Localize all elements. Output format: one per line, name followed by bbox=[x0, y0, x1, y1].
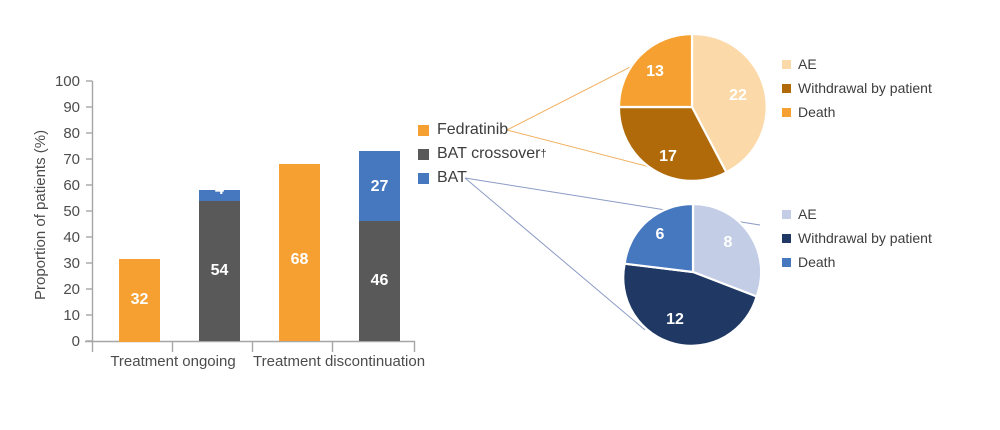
legend-label-ae: AE bbox=[798, 56, 817, 72]
x-axis-category-ticks bbox=[93, 341, 415, 352]
pie-bottom-legend: AE Withdrawal by patient Death bbox=[782, 202, 932, 274]
legend-swatch-fedratinib bbox=[418, 125, 429, 136]
pie-chart-bat bbox=[623, 204, 761, 346]
bar-value-disc-fedratinib: 68 bbox=[279, 251, 320, 269]
legend-swatch-ae bbox=[782, 210, 791, 219]
x-category-ongoing: Treatment ongoing bbox=[93, 353, 253, 370]
legend-label-death: Death bbox=[798, 254, 835, 270]
legend-dagger-bat-crossover: † bbox=[540, 148, 546, 160]
pie-bottom-value-withdrawal: 12 bbox=[666, 311, 684, 329]
legend-item-withdrawal[interactable]: Withdrawal by patient bbox=[782, 76, 932, 100]
legend-item-ae[interactable]: AE bbox=[782, 202, 932, 226]
y-tick-30: 30 bbox=[46, 256, 80, 271]
y-tick-60: 60 bbox=[46, 178, 80, 193]
legend-swatch-ae bbox=[782, 60, 791, 69]
y-tick-50: 50 bbox=[46, 204, 80, 219]
legend-item-bat[interactable]: BAT bbox=[418, 166, 547, 190]
legend-label-ae: AE bbox=[798, 206, 817, 222]
pie-top-value-withdrawal: 17 bbox=[659, 148, 677, 166]
bar-value-ongoing-bat-crossover: 54 bbox=[199, 262, 240, 280]
pie-top-value-ae: 22 bbox=[729, 87, 747, 105]
y-tick-100: 100 bbox=[46, 74, 80, 89]
legend-swatch-death bbox=[782, 108, 791, 117]
y-tick-20: 20 bbox=[46, 282, 80, 297]
legend-item-ae[interactable]: AE bbox=[782, 52, 932, 76]
y-axis-title: Proportion of patients (%) bbox=[32, 130, 49, 300]
y-tick-70: 70 bbox=[46, 152, 80, 167]
legend-swatch-withdrawal bbox=[782, 234, 791, 243]
y-tick-10: 10 bbox=[46, 308, 80, 323]
pie-top-value-death: 13 bbox=[646, 63, 664, 81]
legend-swatch-death bbox=[782, 258, 791, 267]
legend-swatch-bat bbox=[418, 173, 429, 184]
x-category-discontinuation: Treatment discontinuation bbox=[253, 353, 415, 370]
y-tick-80: 80 bbox=[46, 126, 80, 141]
figure-root: 100 90 80 70 60 50 40 30 20 10 0 Proport… bbox=[0, 0, 1000, 430]
bar-value-disc-bat: 27 bbox=[359, 178, 400, 196]
legend-label-withdrawal: Withdrawal by patient bbox=[798, 80, 932, 96]
pie-bottom-value-death: 6 bbox=[656, 226, 665, 244]
y-axis-ticks bbox=[86, 81, 93, 341]
legend-label-withdrawal: Withdrawal by patient bbox=[798, 230, 932, 246]
pie-bottom-value-ae: 8 bbox=[724, 234, 733, 252]
legend-item-bat-crossover[interactable]: BAT crossover† bbox=[418, 142, 547, 166]
legend-label-death: Death bbox=[798, 104, 835, 120]
bar-value-ongoing-fedratinib: 32 bbox=[119, 291, 160, 309]
legend-item-death[interactable]: Death bbox=[782, 250, 932, 274]
legend-label-bat-crossover: BAT crossover bbox=[437, 145, 540, 163]
legend-item-withdrawal[interactable]: Withdrawal by patient bbox=[782, 226, 932, 250]
legend-item-fedratinib[interactable]: Fedratinib bbox=[418, 118, 547, 142]
legend-swatch-withdrawal bbox=[782, 84, 791, 93]
legend-swatch-bat-crossover bbox=[418, 149, 429, 160]
pie-top-legend: AE Withdrawal by patient Death bbox=[782, 52, 932, 124]
y-tick-0: 0 bbox=[46, 334, 80, 349]
legend-label-fedratinib: Fedratinib bbox=[437, 121, 508, 139]
bar-chart-legend: Fedratinib BAT crossover† BAT bbox=[418, 118, 547, 190]
y-tick-90: 90 bbox=[46, 100, 80, 115]
legend-item-death[interactable]: Death bbox=[782, 100, 932, 124]
bar-value-ongoing-bat: 4 bbox=[199, 181, 240, 199]
pie-chart-fedratinib bbox=[619, 34, 767, 181]
legend-label-bat: BAT bbox=[437, 169, 467, 187]
bar-value-disc-bat-crossover: 46 bbox=[359, 272, 400, 290]
y-tick-40: 40 bbox=[46, 230, 80, 245]
